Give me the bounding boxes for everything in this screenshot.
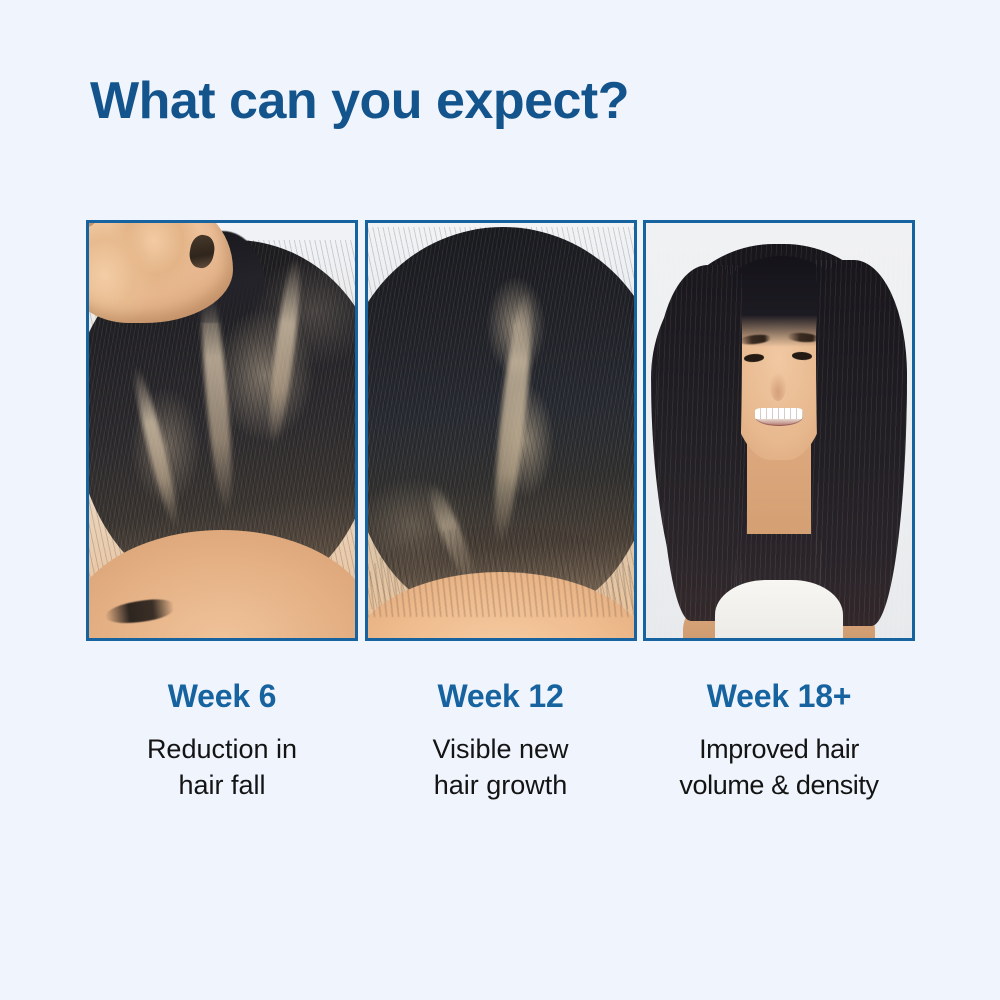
timeline-column-week-12: Week 12 Visible new hair growth: [365, 220, 637, 803]
week-description: Visible new hair growth: [365, 731, 637, 803]
week-label: Week 18+: [643, 677, 915, 715]
after-photo-frame-week-18-plus: [643, 220, 915, 641]
results-timeline: Week 6 Reduction in hair fall: [86, 220, 915, 803]
caption-week-12: Week 12 Visible new hair growth: [365, 641, 637, 803]
timeline-column-week-6: Week 6 Reduction in hair fall: [86, 220, 358, 803]
progress-photo-frame-week-12: [365, 220, 637, 641]
photo-scalp-new-growth: [368, 223, 634, 638]
before-photo-frame-week-6: [86, 220, 358, 641]
timeline-column-week-18-plus: Week 18+ Improved hair volume & density: [643, 220, 915, 803]
caption-week-18-plus: Week 18+ Improved hair volume & density: [643, 641, 915, 803]
week-description: Reduction in hair fall: [86, 731, 358, 803]
week-label: Week 12: [365, 677, 637, 715]
caption-week-6: Week 6 Reduction in hair fall: [86, 641, 358, 803]
promo-card: What can you expect?: [0, 0, 1000, 1000]
photo-hand-lifting-hair: [89, 223, 355, 638]
photo-smiling-woman-long-hair: [646, 223, 912, 638]
week-description: Improved hair volume & density: [643, 731, 915, 803]
page-title: What can you expect?: [90, 70, 629, 132]
week-label: Week 6: [86, 677, 358, 715]
